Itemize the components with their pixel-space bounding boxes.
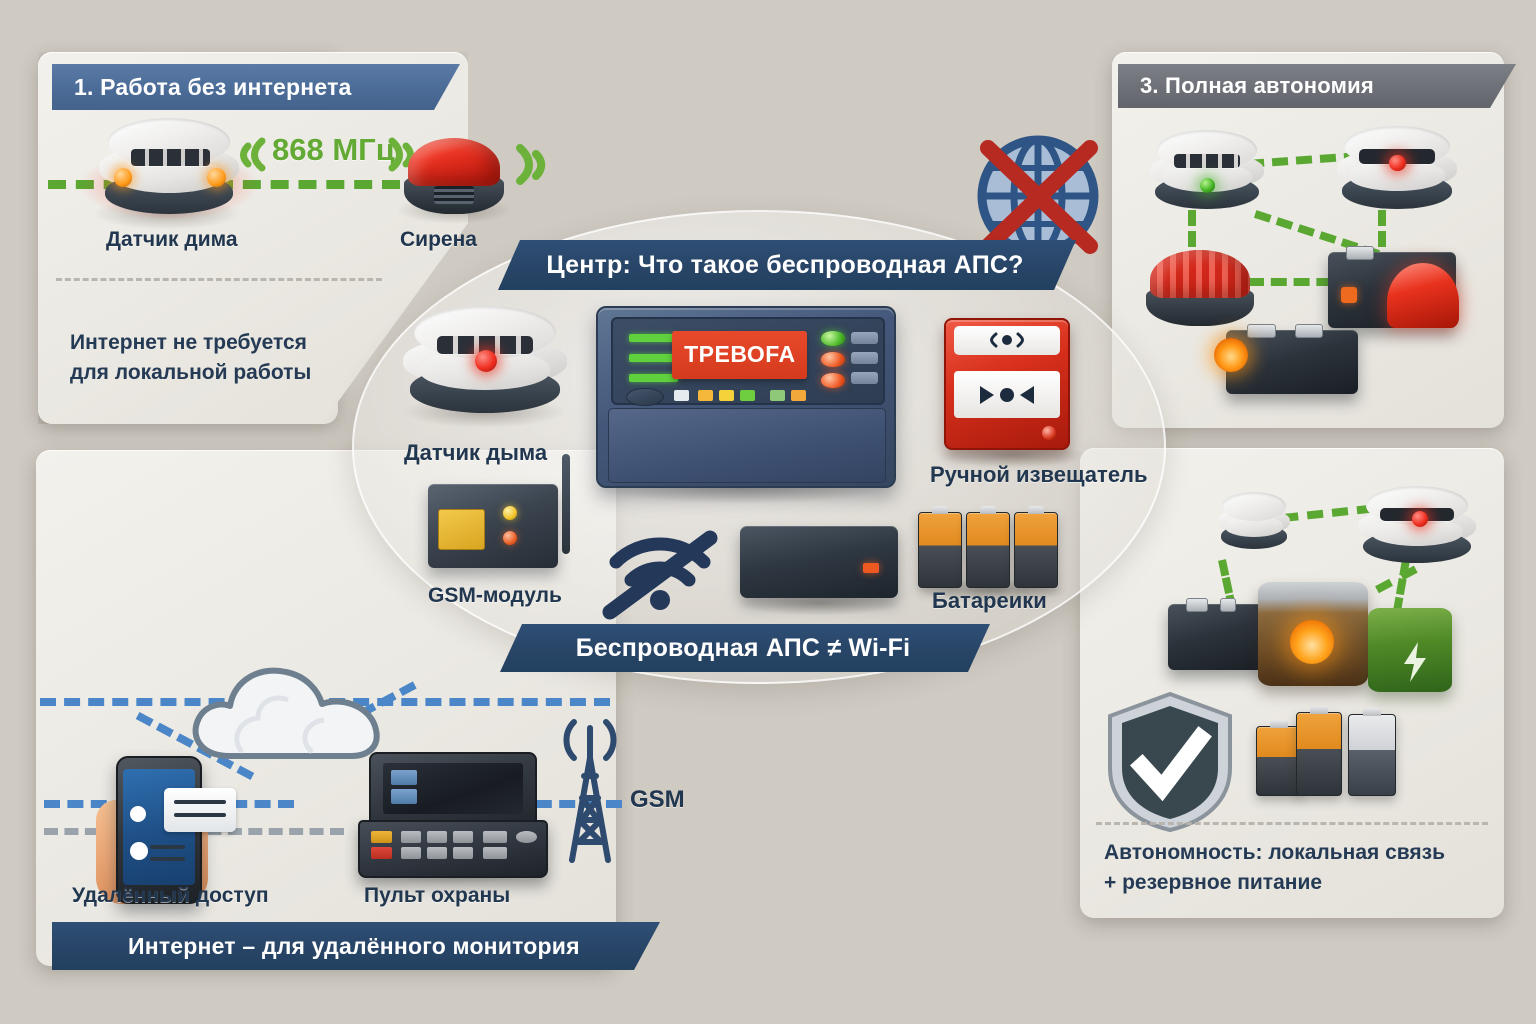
panel-full-autonomy-header-label: 3. Полная автономия: [1140, 73, 1374, 99]
center-smoke-detector-icon: [400, 306, 570, 422]
notification-dot-1: [130, 806, 146, 822]
center-batteries-icon: [918, 504, 1068, 588]
detector-vent: [1174, 154, 1240, 168]
bubble-body: [164, 788, 236, 832]
console-key-red: [371, 847, 391, 859]
panel4-note-line1: Автономность: локальная связь: [1104, 838, 1504, 868]
router-icon: [740, 526, 898, 598]
indicator-green-2: [770, 390, 785, 401]
mcp-sounder: [954, 326, 1060, 355]
console-key: [483, 831, 507, 843]
antenna-rod: [562, 454, 570, 554]
siren-grill: [434, 186, 474, 203]
battery-nub: [1270, 720, 1288, 728]
status-bar-1: [629, 334, 678, 342]
flame-badge-icon: [1290, 620, 1334, 664]
battery-nub: [1363, 708, 1381, 716]
panel4-divider: [1096, 822, 1488, 825]
center-footer-label: Беспроводная АПС ≠ Wi-Fi: [576, 634, 911, 663]
console-key: [483, 847, 507, 859]
battery-nub: [932, 506, 949, 514]
battery-cell-3: [1348, 714, 1396, 796]
console-keyboard: [358, 820, 548, 878]
mesh-beacon-module-icon: [1328, 252, 1456, 328]
shield-check-icon: [1104, 690, 1236, 839]
wifi-crossed-icon: [600, 524, 720, 625]
led-green: [821, 331, 845, 345]
console-key: [453, 831, 473, 843]
indicator-amber-3: [791, 390, 806, 401]
indicator-amber-2: [719, 390, 734, 401]
sim-card-icon: [438, 509, 484, 550]
router-led: [863, 563, 879, 573]
indicator-amber-1: [698, 390, 713, 401]
battery-cell-2: [966, 512, 1010, 588]
control-panel-icon: ТРЕВОFA: [596, 306, 896, 488]
console-tile-1: [391, 770, 417, 785]
siren-dome: [408, 138, 500, 186]
terminal-a: [1247, 324, 1275, 338]
manual-call-point-icon: [944, 318, 1070, 450]
siren-wave-icon: [508, 140, 548, 193]
console-tile-2: [391, 789, 417, 804]
backup-base-unit-icon: [1216, 492, 1292, 554]
panel4-note: Автономность: локальная связь + резервно…: [1104, 838, 1504, 899]
terminal-b: [1220, 598, 1236, 612]
backup-accumulator-icon: [1168, 604, 1268, 670]
remote-access-label: Удалённый доступ: [72, 884, 269, 908]
battery-cell-3: [1014, 512, 1058, 588]
arrow-right-icon: [980, 386, 994, 404]
panel1-note-line2: для локальной работы: [70, 358, 370, 388]
security-console-label: Пульт охраны: [364, 884, 510, 908]
mesh-detector-1-icon: [1148, 130, 1266, 216]
panel-button-2: [851, 352, 878, 364]
panel1-siren-label: Сирена: [400, 228, 477, 252]
message-bubble-icon: [164, 788, 236, 832]
notification-dot-2: [130, 842, 148, 860]
bubble-line-2: [174, 813, 226, 817]
status-bar-3: [629, 374, 678, 382]
notification-line-2: [150, 857, 184, 861]
battery-cell-2: [1296, 712, 1342, 796]
terminal-b: [1295, 324, 1323, 338]
console-key: [401, 831, 421, 843]
panel-remote-monitoring-header-label: Интернет – для удалённого монитория: [74, 933, 580, 960]
battery-nub: [1310, 706, 1328, 714]
gsm-module-label: GSM-модуль: [428, 584, 562, 608]
center-title: Центр: Что такое беспроводная АПС?: [546, 251, 1023, 280]
detector-led-alarm: [1389, 155, 1405, 171]
led-orange-2: [821, 373, 845, 387]
terminal-a: [1346, 246, 1374, 260]
console-key: [427, 831, 447, 843]
panel-button-1: [851, 332, 878, 344]
terminal-a: [1186, 598, 1208, 612]
gsm-tower-icon: [552, 714, 628, 864]
gsm-antenna-icon: [556, 454, 578, 564]
panel1-note-line1: Интернет не требуется: [70, 328, 370, 358]
mesh-detector-2-icon: [1334, 126, 1460, 216]
frequency-label: 868 МГц: [272, 132, 395, 168]
detector-led-alarm: [1412, 511, 1428, 527]
control-panel-lower-cover: [608, 408, 886, 483]
mcp-face: [954, 371, 1060, 419]
panel-button-3: [851, 372, 878, 384]
smoke-detector-icon: [96, 118, 242, 222]
console-key-round: [516, 831, 536, 843]
detector-led-alarm: [475, 350, 497, 372]
console-screen: [369, 752, 537, 829]
siren-icon: [404, 138, 504, 216]
arrow-left-icon: [1020, 386, 1034, 404]
indicator-green-1: [740, 390, 755, 401]
panel-no-internet-header: 1. Работа без интернета: [52, 64, 460, 110]
indicator-white: [674, 390, 689, 401]
panel4-note-line2: + резервное питание: [1104, 868, 1504, 898]
panel1-detector-label: Датчик дима: [106, 228, 238, 252]
console-key-yellow: [371, 831, 391, 843]
panel-full-autonomy-header: 3. Полная автономия: [1118, 64, 1516, 108]
bubble-line-1: [174, 800, 226, 804]
manual-call-point-label: Ручной извещатель: [930, 462, 1148, 488]
panel-no-internet-header-label: 1. Работа без интернета: [74, 74, 352, 101]
infographic-canvas: 1. Работа без интернета 868 МГц Датчик д…: [0, 0, 1536, 1024]
detector-vent: [131, 149, 210, 166]
battery-nub: [980, 506, 997, 514]
status-bar-2: [629, 354, 678, 362]
center-footer-ribbon: Беспроводная АПС ≠ Wi-Fi: [500, 624, 990, 672]
detector-led-left: [114, 168, 133, 187]
battery-cell-1: [918, 512, 962, 588]
siren-dome: [1150, 250, 1249, 298]
security-console-icon: [358, 752, 544, 874]
backup-detector-icon: [1356, 486, 1478, 570]
backup-batteries-icon: [1256, 700, 1416, 794]
console-key: [453, 847, 473, 859]
gsm-tower-label: GSM: [630, 786, 685, 814]
center-detector-label: Датчик дыма: [404, 440, 547, 466]
router-body: [740, 526, 898, 598]
notification-line-1: [150, 845, 184, 849]
mesh-siren-icon: [1146, 250, 1254, 328]
radio-wave-left-icon: [238, 134, 272, 179]
led-orange-1: [821, 352, 845, 366]
battery-nub: [1028, 506, 1045, 514]
sounder-icon: [984, 330, 1030, 350]
console-key: [427, 847, 447, 859]
cloud-icon: [186, 660, 406, 766]
module-indicator: [1341, 287, 1357, 303]
center-title-ribbon: Центр: Что такое беспроводная АПС?: [498, 240, 1076, 290]
press-dot-icon: [1000, 388, 1014, 402]
panel-remote-monitoring-header: Интернет – для удалённого монитория: [52, 922, 660, 970]
panel1-note: Интернет не требуется для локальной рабо…: [70, 328, 370, 389]
center-batteries-label: Батареики: [932, 588, 1047, 614]
flame-icon: [1214, 338, 1248, 372]
alarm-display: ТРЕВОFA: [672, 331, 807, 380]
panel1-divider: [56, 278, 382, 281]
detector-led-right: [207, 168, 226, 187]
console-key: [401, 847, 421, 859]
gsm-module-icon: [428, 484, 558, 568]
